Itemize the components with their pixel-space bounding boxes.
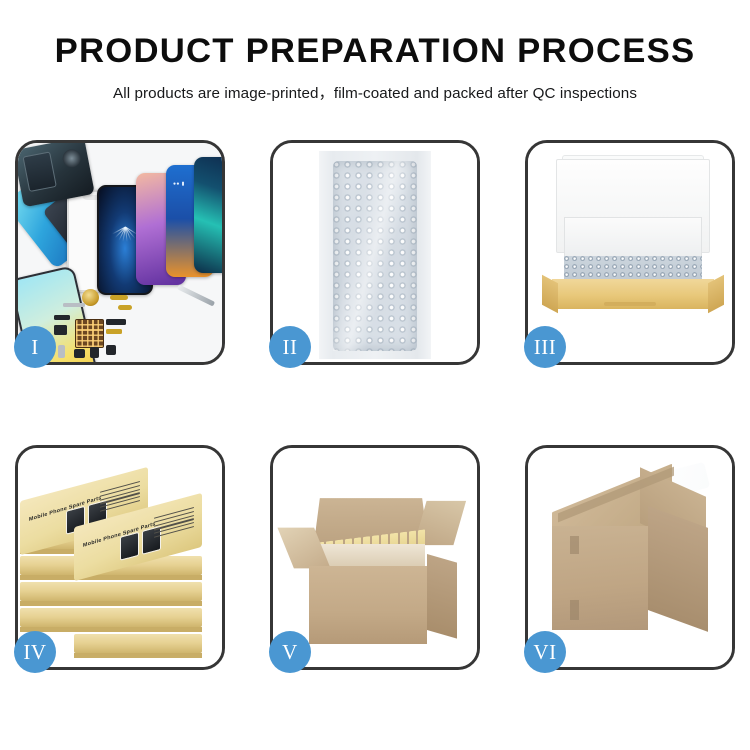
carton-seam-upper xyxy=(570,536,579,554)
box-spec-lines-2 xyxy=(154,507,194,546)
carton-front-face xyxy=(309,566,427,644)
flex-cable-2 xyxy=(118,305,132,310)
carton-side-face xyxy=(427,554,457,639)
step-1-image: ●● ▮ xyxy=(18,143,222,362)
spare-part-strip-1 xyxy=(63,303,85,307)
step-5-image xyxy=(273,448,477,667)
step-2-image xyxy=(273,143,477,362)
step-6-image xyxy=(528,448,732,667)
phone-display-teal xyxy=(194,157,222,273)
process-step-panel-4[interactable]: Mobile Phone Spare Parts Mobile Phone Sp… xyxy=(15,445,225,670)
phone-status-bar: ●● ▮ xyxy=(173,181,185,187)
battery-connector xyxy=(90,347,99,358)
page-header: PRODUCT PREPARATION PROCESS All products… xyxy=(0,0,750,103)
flex-cable-3 xyxy=(106,329,122,334)
sim-tray xyxy=(58,345,65,358)
box-art-screen-2a xyxy=(120,532,139,561)
step-badge-5: V xyxy=(269,631,311,673)
process-step-panel-5[interactable]: V xyxy=(270,445,480,670)
step-badge-6: VI xyxy=(524,631,566,673)
page-subtitle: All products are image-printed，film-coat… xyxy=(0,81,750,103)
process-step-grid: ●● ▮ I II xyxy=(0,140,750,670)
camera-module xyxy=(54,325,67,335)
sealed-carton-front-face xyxy=(552,526,648,630)
flex-cable-1 xyxy=(110,295,128,300)
vibration-motor xyxy=(74,349,85,358)
spare-part-strip-2 xyxy=(54,315,70,320)
tweezers-tool xyxy=(177,284,215,306)
process-step-panel-1[interactable]: ●● ▮ I xyxy=(15,140,225,365)
inner-box-front-tab xyxy=(604,302,656,306)
retail-box-stack: Mobile Phone Spare Parts Mobile Phone Sp… xyxy=(18,448,222,667)
page-title: PRODUCT PREPARATION PROCESS xyxy=(0,34,750,70)
process-step-panel-3[interactable]: III xyxy=(525,140,735,365)
sealed-carton-side-face xyxy=(648,506,708,632)
process-step-panel-2[interactable]: II xyxy=(270,140,480,365)
inner-box-foam-pad xyxy=(564,217,702,261)
ic-chip xyxy=(106,345,116,355)
retail-box-r3 xyxy=(74,582,202,601)
step-badge-1: I xyxy=(14,326,56,368)
retail-box-r4 xyxy=(74,608,202,627)
process-step-panel-6[interactable]: VI xyxy=(525,445,735,670)
retail-box-r5 xyxy=(74,634,202,653)
step-4-image: Mobile Phone Spare Parts Mobile Phone Sp… xyxy=(18,448,222,667)
step-badge-3: III xyxy=(524,326,566,368)
connector-chip-part xyxy=(75,319,104,348)
step-badge-4: IV xyxy=(14,631,56,673)
step-3-image xyxy=(528,143,732,362)
spare-part-strip-3 xyxy=(106,319,126,325)
step-badge-2: II xyxy=(269,326,311,368)
carton-seam-lower xyxy=(570,600,579,620)
bubble-wrapped-package xyxy=(333,161,417,351)
